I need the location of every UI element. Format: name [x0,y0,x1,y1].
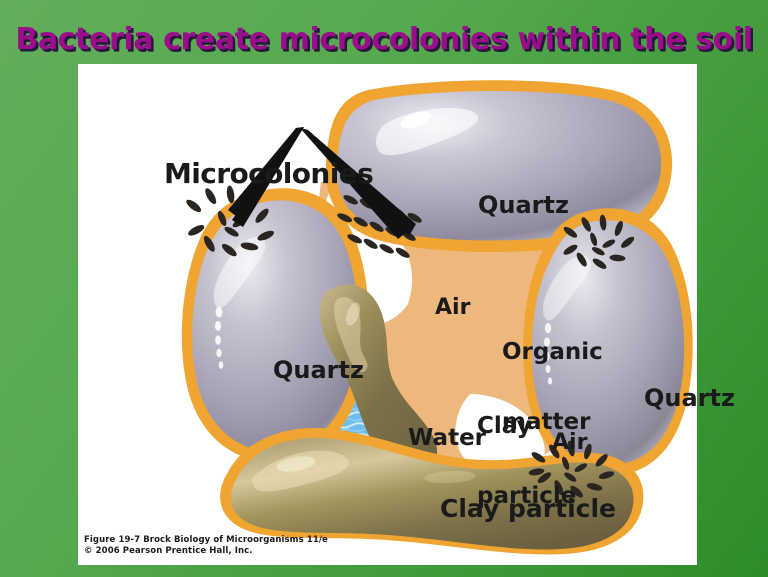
quartz-grain-right [523,208,693,476]
caption-line-1: Figure 19-7 Brock Biology of Microorgani… [84,535,328,546]
soil-diagram [78,64,697,565]
figure-panel: Microcolonies Quartz Quartz Quartz Air A… [78,64,697,565]
caption-line-2: © 2006 Pearson Prentice Hall, Inc. [84,546,328,557]
slide-title: Bacteria create microcolonies within the… [0,22,768,57]
figure-caption: Figure 19-7 Brock Biology of Microorgani… [84,535,328,557]
slide-canvas: Bacteria create microcolonies within the… [0,0,768,577]
